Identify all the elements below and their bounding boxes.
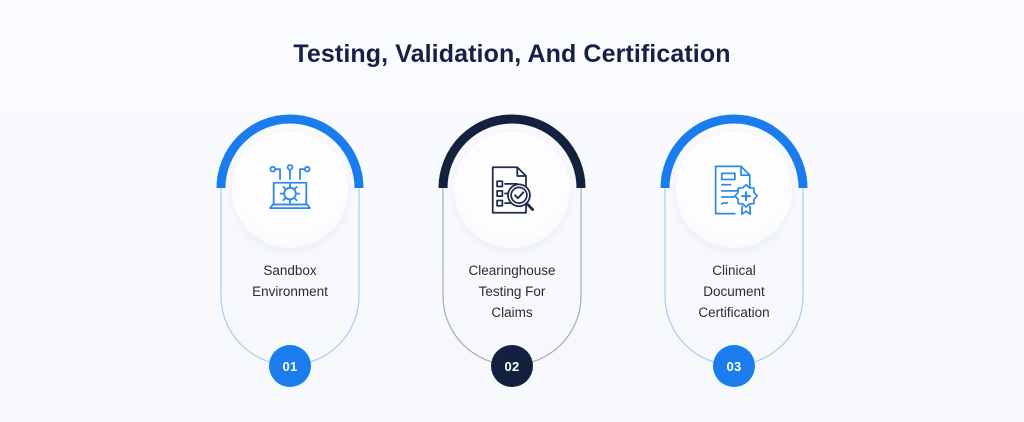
- step-card-2[interactable]: Clearinghouse Testing For Claims 02: [438, 108, 586, 398]
- steps-container: Sandbox Environment 01: [0, 108, 1024, 398]
- step-card-1[interactable]: Sandbox Environment 01: [216, 108, 364, 398]
- step-label-1: Sandbox Environment: [220, 260, 360, 302]
- document-checklist-magnifier-icon: [480, 158, 544, 222]
- step-label-line: Clearinghouse: [442, 260, 582, 281]
- step-badge-2[interactable]: 02: [491, 345, 533, 387]
- laptop-gear-circuit-icon: [258, 158, 322, 222]
- step-label-line: Certification: [664, 302, 804, 323]
- step-label-line: Clinical: [664, 260, 804, 281]
- step-badge-3[interactable]: 03: [713, 345, 755, 387]
- step-label-line: Testing For: [442, 281, 582, 302]
- step-badge-1[interactable]: 01: [269, 345, 311, 387]
- step-label-line: Sandbox: [220, 260, 360, 281]
- document-certificate-seal-icon: [702, 158, 766, 222]
- step-card-3[interactable]: Clinical Document Certification 03: [660, 108, 808, 398]
- step-label-line: Document: [664, 281, 804, 302]
- page-title: Testing, Validation, And Certification: [0, 40, 1024, 69]
- step-label-line: Claims: [442, 302, 582, 323]
- infographic-canvas: Testing, Validation, And Certification: [0, 0, 1024, 422]
- step-label-2: Clearinghouse Testing For Claims: [442, 260, 582, 323]
- step-label-3: Clinical Document Certification: [664, 260, 804, 323]
- step-label-line: Environment: [220, 281, 360, 302]
